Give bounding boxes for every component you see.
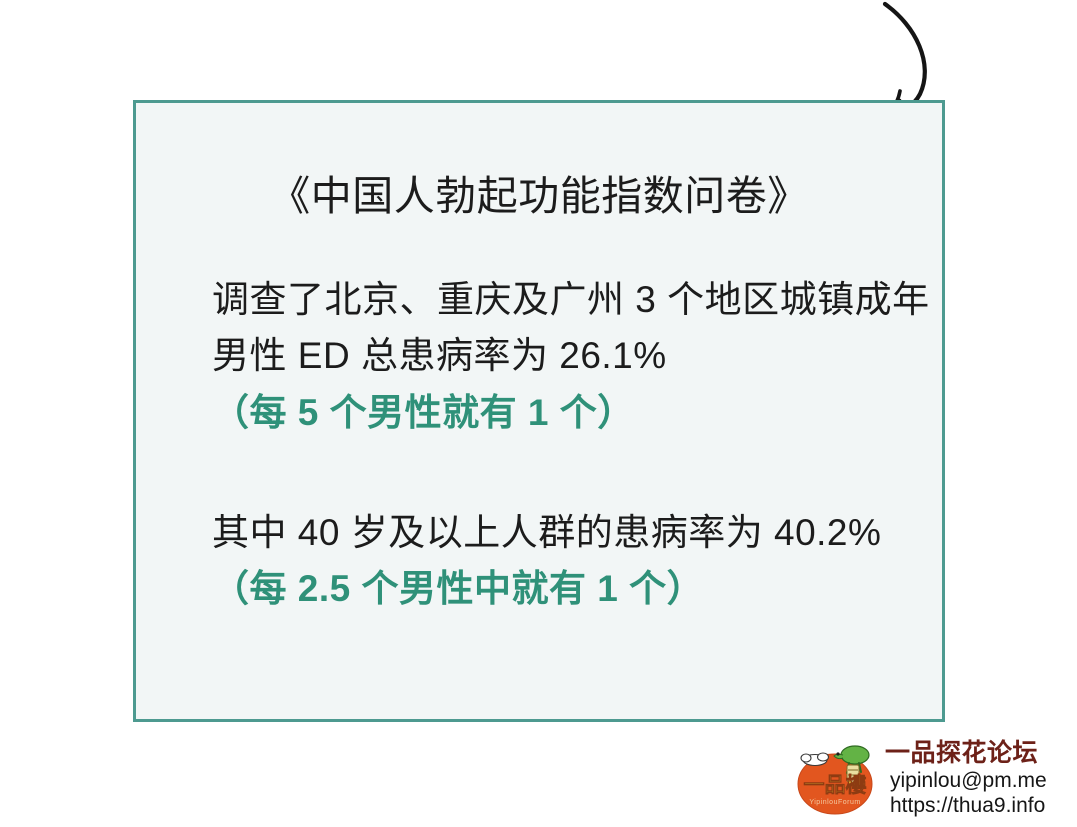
paragraph-1-highlight-text: （每 5 个男性就有 1 个） xyxy=(212,392,635,433)
watermark-forum-name: 一品探花论坛 xyxy=(885,740,1038,767)
card-title: 《中国人勃起功能指数问卷》 xyxy=(136,103,942,222)
svg-text:YipinlouForum: YipinlouForum xyxy=(809,799,860,806)
paragraph-2-normal-text: 其中 40 岁及以上人群的患病率为 40.2% xyxy=(212,512,881,553)
watermark-text-block: 一品探花论坛 yipinlou@pm.me https://thua9.info xyxy=(885,738,1047,817)
svg-text:一品樓: 一品樓 xyxy=(804,773,867,797)
paragraph-over-40-prevalence: 其中 40 岁及以上人群的患病率为 40.2%（每 2.5 个男性中就有 1 个… xyxy=(212,505,942,617)
yipinlou-forum-logo-icon: 一品樓 YipinlouForum xyxy=(793,738,877,822)
watermark: 一品樓 YipinlouForum 一品探花论坛 yipinlou@pm.me … xyxy=(793,738,1077,827)
watermark-url: https://thua9.info xyxy=(885,795,1045,817)
card-body: 调查了北京、重庆及广州 3 个地区城镇成年男性 ED 总患病率为 26.1%（每… xyxy=(136,272,942,617)
paragraph-1-normal-text: 调查了北京、重庆及广州 3 个地区城镇成年男性 ED 总患病率为 26.1% xyxy=(212,279,930,376)
paragraph-2-highlight-text: （每 2.5 个男性中就有 1 个） xyxy=(212,568,704,609)
info-card: 《中国人勃起功能指数问卷》 调查了北京、重庆及广州 3 个地区城镇成年男性 ED… xyxy=(133,100,945,722)
paragraph-overall-prevalence: 调查了北京、重庆及广州 3 个地区城镇成年男性 ED 总患病率为 26.1%（每… xyxy=(212,272,942,441)
watermark-email: yipinlou@pm.me xyxy=(885,770,1047,792)
